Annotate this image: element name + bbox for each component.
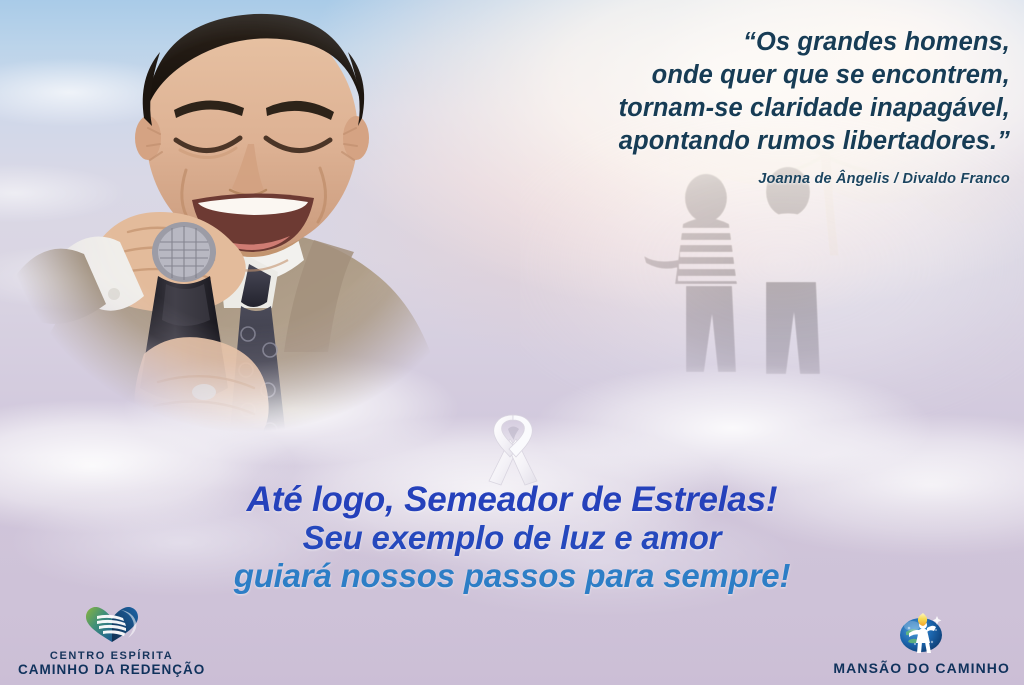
- quote-attribution: Joanna de Ângelis / Divaldo Franco: [450, 171, 1010, 187]
- quote-line-4: apontando rumos libertadores.”: [450, 125, 1010, 158]
- memorial-poster: “Os grandes homens, onde quer que se enc…: [0, 0, 1024, 685]
- globe-figure-flame-icon: [896, 610, 948, 659]
- headline-line-3: guiará nossos passos para sempre!: [0, 557, 1024, 595]
- logo-right-line2: MANSÃO DO CAMINHO: [833, 661, 1010, 677]
- logo-right-text: MANSÃO DO CAMINHO: [833, 661, 1010, 677]
- mourning-ribbon-icon: [479, 409, 547, 487]
- quote-line-1: “Os grandes homens,: [450, 26, 1010, 59]
- logo-centro-espirita: CENTRO ESPÍRITA CAMINHO DA REDENÇÃO: [18, 605, 205, 677]
- logo-left-line2: CAMINHO DA REDENÇÃO: [18, 662, 205, 677]
- quote-line-2: onde quer que se encontrem,: [450, 59, 1010, 92]
- quote-block: “Os grandes homens, onde quer que se enc…: [450, 26, 1010, 187]
- logo-left-text: CENTRO ESPÍRITA CAMINHO DA REDENÇÃO: [18, 650, 205, 677]
- headline-block: Até logo, Semeador de Estrelas! Seu exem…: [0, 481, 1024, 595]
- quote-line-3: tornam-se claridade inapagável,: [450, 92, 1010, 125]
- portrait-photo: [8, 0, 488, 464]
- heart-hands-icon: [83, 605, 141, 648]
- headline-line-1: Até logo, Semeador de Estrelas!: [0, 481, 1024, 519]
- logo-mansao-do-caminho: MANSÃO DO CAMINHO: [833, 610, 1010, 677]
- logo-left-line1: CENTRO ESPÍRITA: [18, 650, 205, 662]
- headline-line-2: Seu exemplo de luz e amor: [0, 519, 1024, 557]
